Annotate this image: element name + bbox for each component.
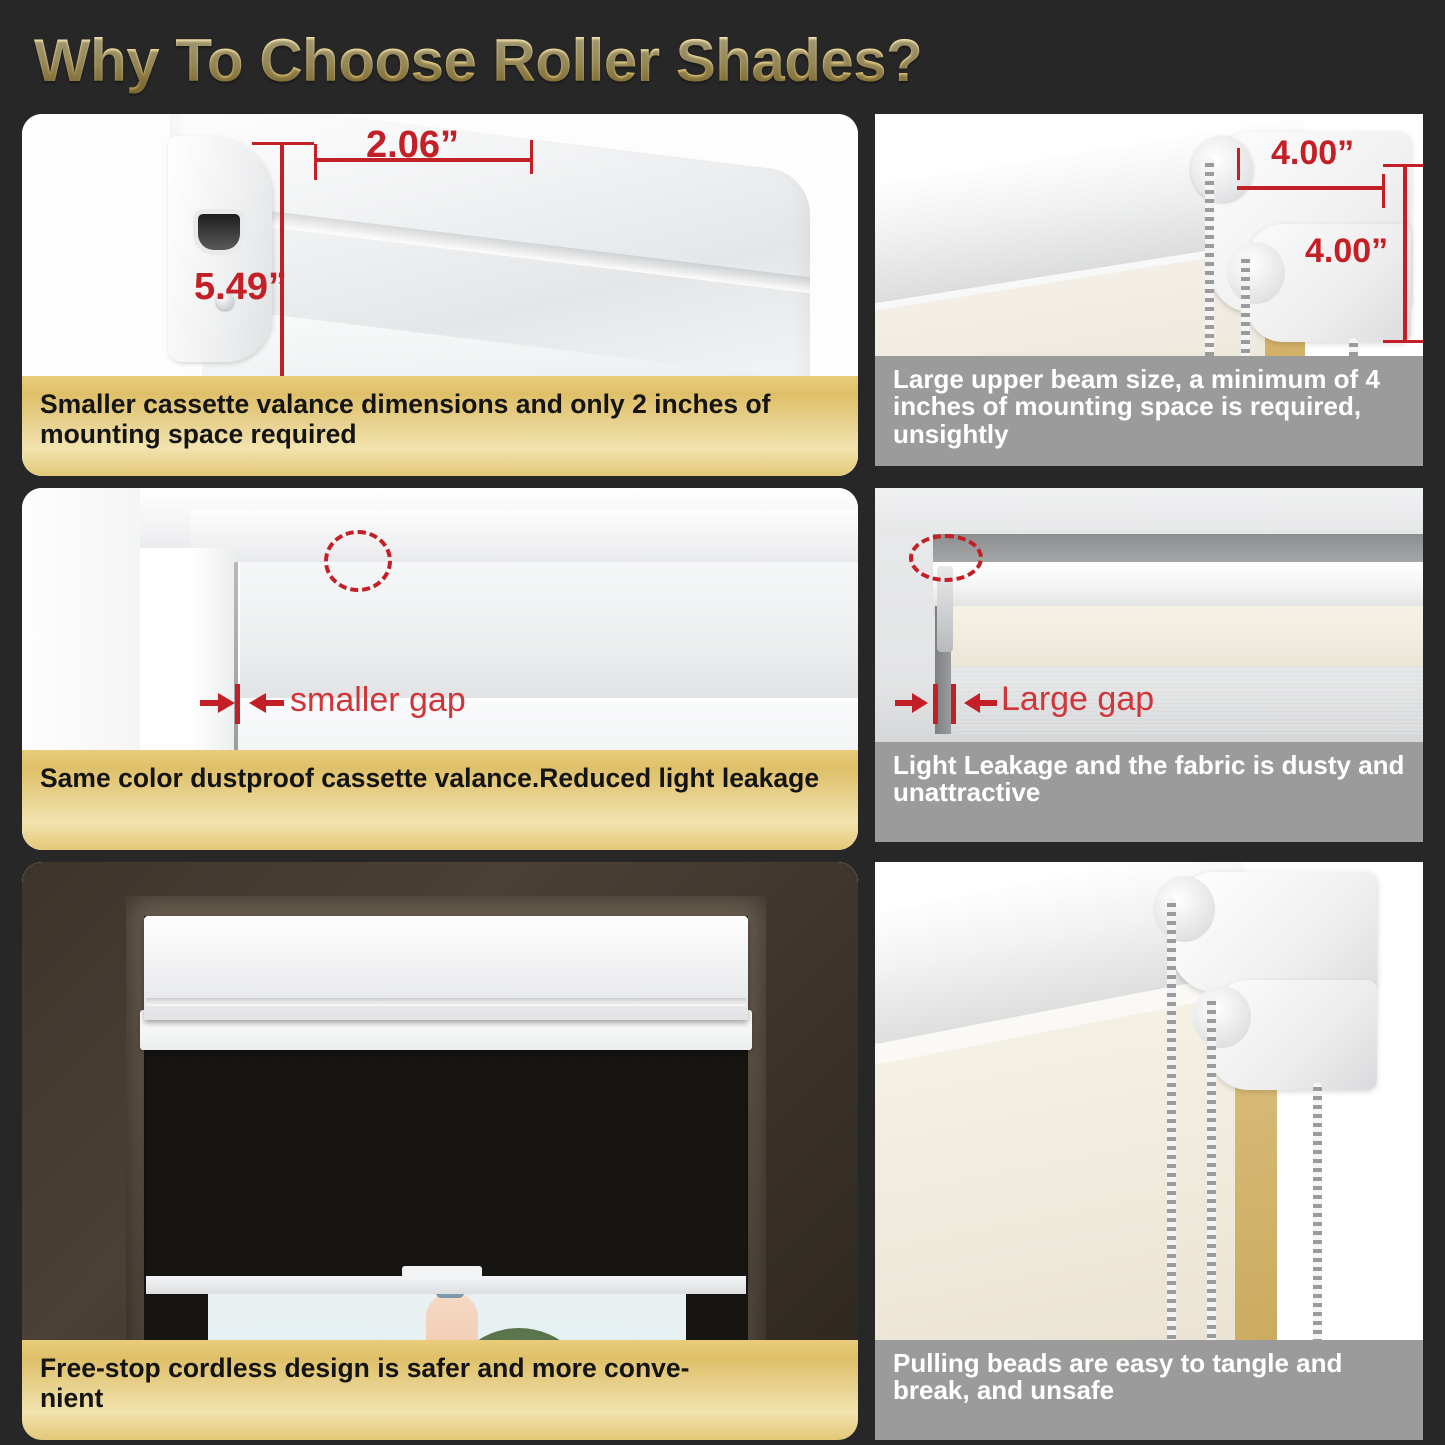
pulley-wheel-lower xyxy=(1227,242,1285,304)
panel-smaller-cassette: 2.06” 5.49” Smaller cassette valance dim… xyxy=(22,114,858,476)
dimension-height-label: 4.00” xyxy=(1305,232,1388,271)
panel-5-caption: Free-stop cordless design is safer and m… xyxy=(22,1340,858,1440)
panel-3-caption: Same color dustproof cassette valance.Re… xyxy=(22,750,858,850)
dim-tick-w-right xyxy=(1382,174,1385,208)
panel-pulling-beads: Pulling beads are easy to tangle and bre… xyxy=(875,862,1423,1440)
panel-large-beam: 4.00” 4.00” Large upper beam size, a min… xyxy=(875,114,1423,466)
pulley-wheel-upper xyxy=(1191,136,1253,202)
dim-tick-left-top xyxy=(314,144,317,180)
panel-6-caption: Pulling beads are easy to tangle and bre… xyxy=(875,1340,1423,1440)
dimension-width-label: 2.06” xyxy=(366,124,459,167)
dim-tick-h-bottom xyxy=(1383,340,1423,343)
gap-marker-line-1 xyxy=(933,684,938,724)
panel-1-caption: Smaller cassette valance dimensions and … xyxy=(22,376,858,476)
arrow-left-icon xyxy=(248,692,284,714)
dim-tick-top xyxy=(252,142,314,145)
page-title-bar: Why To Choose Roller Shades? xyxy=(34,14,1414,106)
dim-tick-w-left xyxy=(1237,148,1240,180)
cassette-valance xyxy=(144,916,748,1020)
pull-tab xyxy=(402,1266,482,1278)
panel-4-caption: Light Leakage and the fabric is dusty an… xyxy=(875,742,1423,842)
bead-chain-2 xyxy=(1207,996,1216,1390)
window-frame-inner xyxy=(190,510,858,562)
dim-line-w xyxy=(1237,186,1385,190)
pulley-wheel-lower xyxy=(1193,986,1251,1048)
pulley-wheel-upper xyxy=(1153,876,1215,942)
gap-label: Large gap xyxy=(1001,680,1154,719)
panel-cordless-design: Free-stop cordless design is safer and m… xyxy=(22,862,858,1440)
comparison-grid: 2.06” 5.49” Smaller cassette valance dim… xyxy=(0,108,1445,1445)
page-title: Why To Choose Roller Shades? xyxy=(34,26,922,95)
gap-label: smaller gap xyxy=(290,681,466,720)
arrow-right-icon xyxy=(200,692,236,714)
panel-5-caption-line-1: Free-stop cordless design is safer and m… xyxy=(40,1353,689,1383)
dim-tick-right-top xyxy=(530,140,533,174)
dimension-width-label: 4.00” xyxy=(1271,134,1354,173)
bottom-rail xyxy=(146,1276,746,1294)
panel-2-caption: Large upper beam size, a minimum of 4 in… xyxy=(875,356,1423,466)
highlight-circle-icon xyxy=(324,530,392,592)
highlight-circle-icon xyxy=(909,534,983,582)
window-jamb xyxy=(190,548,234,778)
wall-surface xyxy=(875,488,1423,534)
dim-line-h xyxy=(1403,164,1407,342)
arrow-right-icon xyxy=(895,692,929,714)
dimension-height-label: 5.49” xyxy=(194,266,287,309)
roller-shade-fabric xyxy=(146,1048,746,1282)
cassette-slot-icon xyxy=(198,214,240,250)
panel-5-caption-line-2: nient xyxy=(40,1383,103,1413)
valance-strip xyxy=(947,606,1423,666)
panel-smaller-gap: smaller gap Same color dustproof cassett… xyxy=(22,488,858,850)
dim-tick-h-top xyxy=(1383,164,1423,167)
arrow-left-icon xyxy=(963,692,997,714)
gap-marker-line-2 xyxy=(951,684,956,724)
panel-large-gap: Large gap Light Leakage and the fabric i… xyxy=(875,488,1423,842)
bead-chain-1 xyxy=(1167,898,1176,1388)
